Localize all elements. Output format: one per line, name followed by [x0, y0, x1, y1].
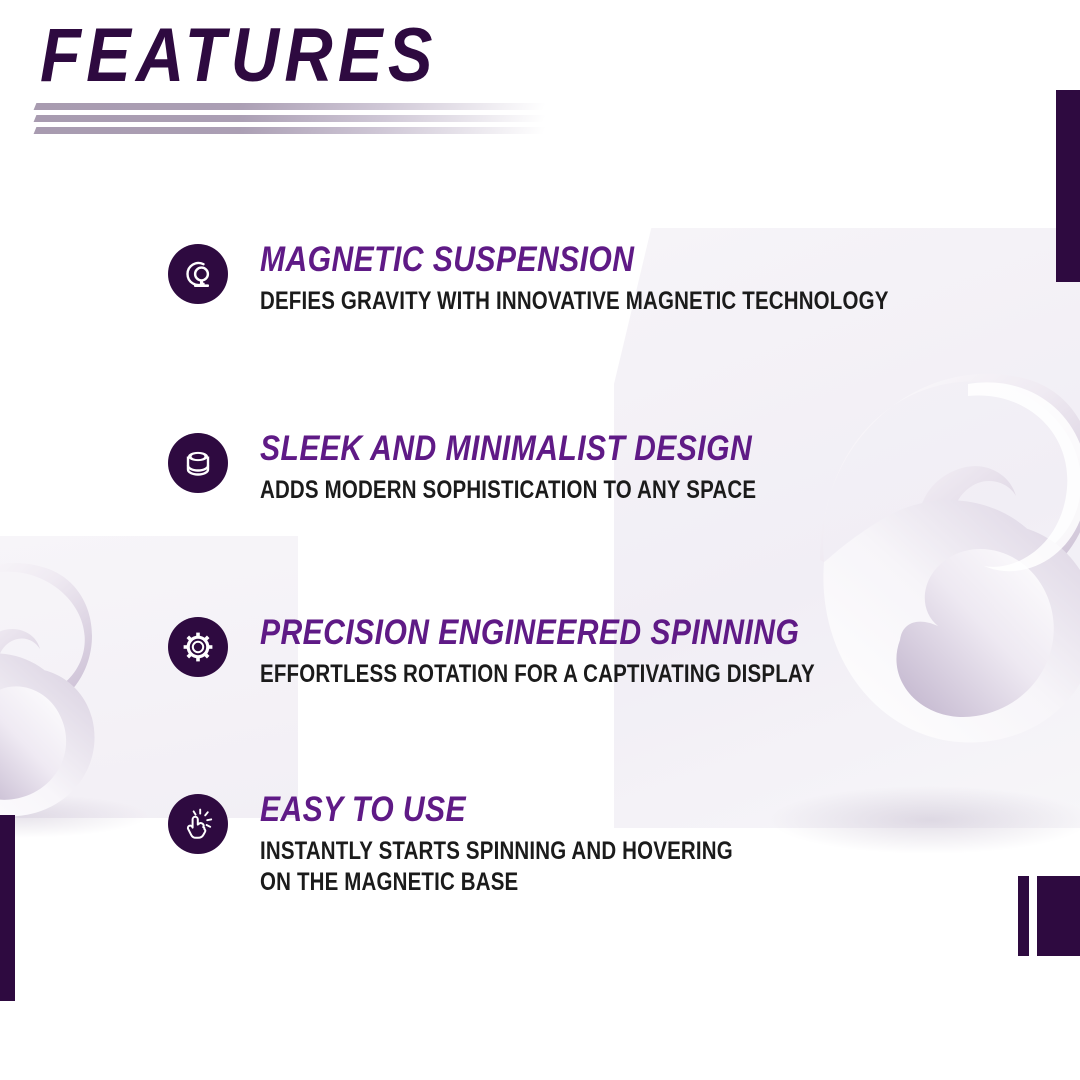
accent-bar-bottom-left [0, 815, 15, 1001]
tapping-hand-icon [168, 794, 228, 854]
title-underline-rules [35, 103, 555, 137]
feature-item: EASY TO USE INSTANTLY STARTS SPINNING AN… [168, 790, 1028, 898]
feature-title: SLEEK AND MINIMALIST DESIGN [260, 429, 780, 469]
feature-text: SLEEK AND MINIMALIST DESIGN ADDS MODERN … [260, 429, 865, 506]
feature-item: MAGNETIC SUSPENSION DEFIES GRAVITY WITH … [168, 240, 1028, 317]
feature-item: SLEEK AND MINIMALIST DESIGN ADDS MODERN … [168, 429, 1028, 506]
feature-item: PRECISION ENGINEERED SPINNING EFFORTLESS… [168, 613, 1028, 690]
feature-title: EASY TO USE [260, 790, 756, 830]
gear-cog-icon [168, 617, 228, 677]
title-rule-2 [34, 115, 547, 122]
feature-text: EASY TO USE INSTANTLY STARTS SPINNING AN… [260, 790, 837, 898]
feature-title: PRECISION ENGINEERED SPINNING [260, 613, 842, 653]
cylinder-object-icon [168, 433, 228, 493]
magnetic-levitation-globe-icon [168, 244, 228, 304]
header: FEATURES [40, 18, 492, 94]
feature-description: INSTANTLY STARTS SPINNING AND HOVERING O… [260, 836, 733, 898]
title-rule-1 [34, 103, 547, 110]
feature-title: MAGNETIC SUSPENSION [260, 240, 919, 280]
feature-text: MAGNETIC SUSPENSION DEFIES GRAVITY WITH … [260, 240, 1027, 317]
accent-bar-bottom-right-wide [1037, 876, 1080, 956]
poster-canvas: FEATURES MAGNETIC SUSPENSION DEFIES GRAV… [0, 0, 1080, 1080]
features-list: MAGNETIC SUSPENSION DEFIES GRAVITY WITH … [168, 240, 1028, 898]
feature-description: ADDS MODERN SOPHISTICATION TO ANY SPACE [260, 475, 756, 506]
abstract-spiral-torus-left [0, 540, 168, 840]
feature-description: EFFORTLESS ROTATION FOR A CAPTIVATING DI… [260, 659, 815, 690]
feature-text: PRECISION ENGINEERED SPINNING EFFORTLESS… [260, 613, 937, 690]
page-title: FEATURES [40, 18, 438, 94]
title-rule-3 [34, 127, 547, 134]
accent-bar-top-right [1056, 90, 1080, 282]
feature-description: DEFIES GRAVITY WITH INNOVATIVE MAGNETIC … [260, 286, 889, 317]
